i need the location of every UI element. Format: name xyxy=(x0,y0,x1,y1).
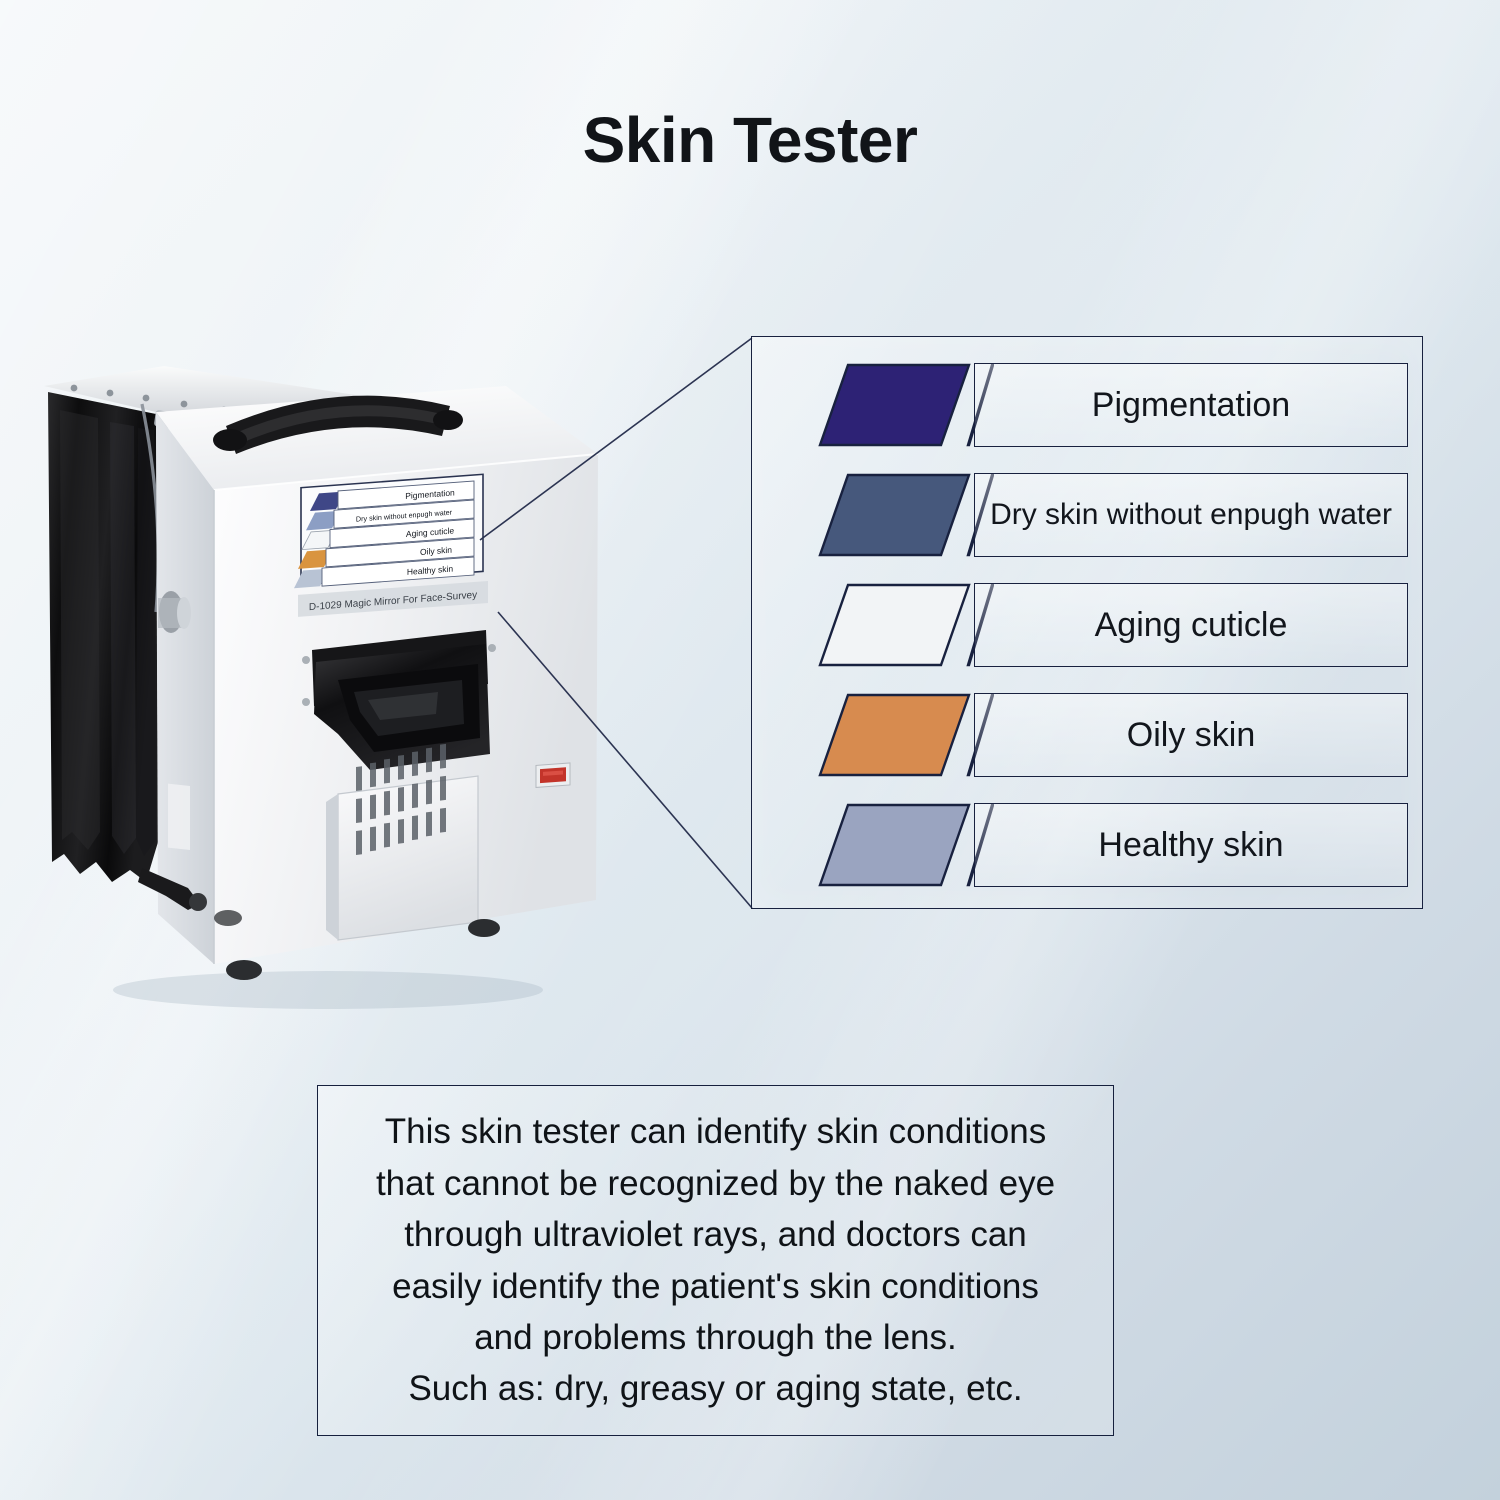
legend-row-dry-skin[interactable]: Dry skin without enpugh water xyxy=(818,473,1408,557)
legend-row-aging-cuticle[interactable]: Aging cuticle xyxy=(818,583,1408,667)
legend-swatch-pigmentation xyxy=(818,363,971,447)
skin-tester-illustration: Pigmentation Dry skin without enpugh wat… xyxy=(38,362,603,1027)
infographic-page: Skin Tester xyxy=(0,0,1500,1500)
legend-swatch-healthy-skin xyxy=(818,803,971,887)
legend-swatch-oily-skin xyxy=(818,693,971,777)
description-box: This skin tester can identify skin condi… xyxy=(317,1085,1114,1436)
description-line-5: and problems through the lens. xyxy=(376,1312,1055,1363)
legend-label-dry-skin: Dry skin without enpugh water xyxy=(990,498,1392,532)
description-line-1: This skin tester can identify skin condi… xyxy=(376,1106,1055,1157)
legend-row-pigmentation[interactable]: Pigmentation xyxy=(818,363,1408,447)
legend-label-healthy-skin: Healthy skin xyxy=(1098,826,1283,865)
legend-label-pigmentation: Pigmentation xyxy=(1092,386,1290,425)
legend-label-aging-cuticle: Aging cuticle xyxy=(1095,606,1288,645)
page-title: Skin Tester xyxy=(0,103,1500,177)
description-line-3: through ultraviolet rays, and doctors ca… xyxy=(376,1209,1055,1260)
power-switch xyxy=(536,763,570,787)
description-line-6: Such as: dry, greasy or aging state, etc… xyxy=(376,1363,1055,1414)
legend-swatch-aging-cuticle xyxy=(818,583,971,667)
skin-condition-legend-panel: Pigmentation Dry skin without enpugh wat… xyxy=(751,336,1423,909)
legend-bar-aging-cuticle: Aging cuticle xyxy=(974,583,1408,667)
legend-bar-pigmentation: Pigmentation xyxy=(974,363,1408,447)
legend-bar-healthy-skin: Healthy skin xyxy=(974,803,1408,887)
device-mini-legend: Pigmentation Dry skin without enpugh wat… xyxy=(294,474,483,588)
legend-row-healthy-skin[interactable]: Healthy skin xyxy=(818,803,1408,887)
description-line-2: that cannot be recognized by the naked e… xyxy=(376,1158,1055,1209)
description-line-4: easily identify the patient's skin condi… xyxy=(376,1261,1055,1312)
legend-row-oily-skin[interactable]: Oily skin xyxy=(818,693,1408,777)
legend-bar-oily-skin: Oily skin xyxy=(974,693,1408,777)
legend-swatch-dry-skin xyxy=(818,473,971,557)
legend-bar-dry-skin: Dry skin without enpugh water xyxy=(974,473,1408,557)
legend-label-oily-skin: Oily skin xyxy=(1127,716,1255,755)
description-text: This skin tester can identify skin condi… xyxy=(354,1106,1077,1415)
product-photo: Pigmentation Dry skin without enpugh wat… xyxy=(38,362,603,1027)
